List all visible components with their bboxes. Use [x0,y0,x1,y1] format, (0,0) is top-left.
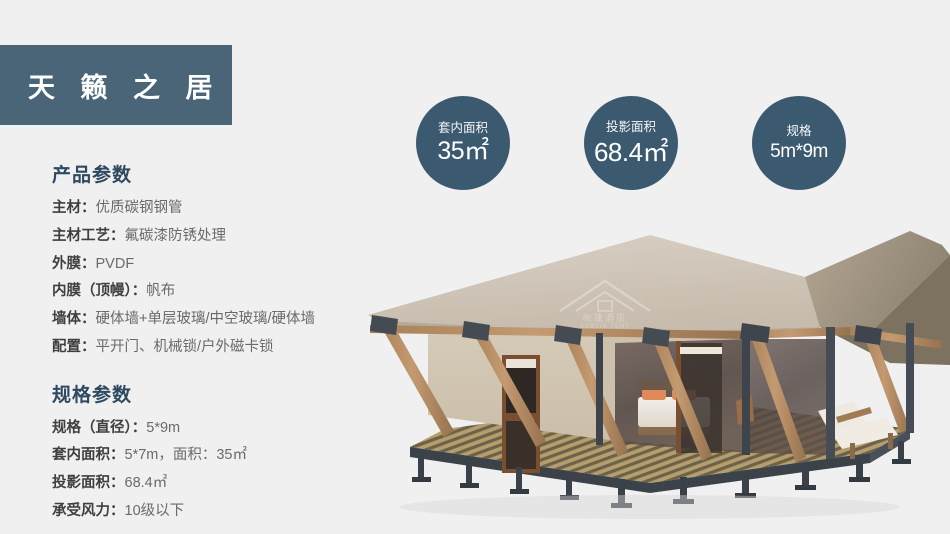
support-leg [898,441,904,461]
leg-base-plate [460,483,479,488]
spec-label: 主材： [52,200,96,216]
tent-house-render: 帐篷酒店 XUELIN TENT [350,215,950,534]
product-spec-page: 天 籁 之 居 产品参数 主材：优质碳钢钢管 主材工艺：氟碳漆防锈处理 外膜：P… [0,0,950,534]
spec-value: 帆布 [146,283,175,299]
stat-label: 套内面积 [438,122,488,135]
spec-row: 墙体：硬体墙+单层玻璃/中空玻璃/硬体墙 [52,306,380,334]
spec-value: 硬体墙+单层玻璃/中空玻璃/硬体墙 [96,311,316,327]
spec-value: 平开门、机械锁/户外磁卡锁 [96,339,274,355]
leg-base-plate [892,459,911,464]
spec-row: 套内面积：5*7m，面积：35㎡ [52,442,380,470]
spec-value: 氟碳漆防锈处理 [125,228,227,244]
steel-column [826,327,835,459]
leg-base-plate [795,485,816,490]
stat-label: 规格 [786,125,811,138]
leg-base-plate [510,489,529,494]
support-leg [742,471,749,495]
lounger-leg-right [888,433,893,449]
ground-shadow [400,495,900,519]
stat-value: 35㎡ [437,139,488,164]
spec-params-heading: 规格参数 [52,380,380,407]
spec-row: 主材：优质碳钢钢管 [52,195,380,223]
window-blind [506,359,536,368]
interior-light-strip [680,347,722,354]
spec-label: 规格（直径）： [52,420,146,436]
product-params-heading: 产品参数 [52,160,380,187]
spec-row: 配置：平开门、机械锁/户外磁卡锁 [52,334,380,362]
spec-label: 墙体： [52,311,96,327]
spec-label: 配置： [52,339,96,355]
steel-column [906,323,914,433]
support-leg [516,467,522,491]
spec-row: 内膜（顶幔）：帆布 [52,278,380,306]
spec-label: 投影面积： [52,475,125,491]
stat-circle-dimensions: 规格 5m*9m [752,96,846,190]
spec-label: 主材工艺： [52,228,125,244]
support-leg [418,455,424,479]
spec-value: PVDF [96,256,135,272]
spec-row: 承受风力：10级以下 [52,498,380,526]
spec-row: 投影面积：68.4㎡ [52,470,380,498]
support-leg [856,457,863,479]
spec-params-list: 规格（直径）：5*9m 套内面积：5*7m，面积：35㎡ 投影面积：68.4㎡ … [0,415,380,526]
leg-base-plate [849,477,870,482]
support-leg [466,461,472,485]
leg-base-plate [412,477,431,482]
spec-value: 优质碳钢钢管 [96,200,183,216]
spec-label: 套内面积： [52,447,125,463]
stat-circles-group: 套内面积 35㎡ 投影面积 68.4㎡ 规格 5m*9m [414,96,894,196]
stat-circle-projected-area: 投影面积 68.4㎡ [584,96,678,190]
stat-label: 投影面积 [606,121,656,134]
support-leg [566,473,572,497]
title-banner: 天 籁 之 居 [0,45,232,125]
spec-value: 5*7m，面积：35㎡ [125,447,247,463]
stat-value: 5m*9m [770,142,828,161]
tent-house-illustration [350,215,950,534]
stat-value: 68.4㎡ [594,139,668,165]
page-title: 天 籁 之 居 [0,66,222,105]
support-leg [802,465,809,487]
spec-label: 内膜（顶幔）： [52,283,146,299]
spec-value: 10级以下 [125,503,185,519]
steel-column [596,333,603,445]
spec-panel: 产品参数 主材：优质碳钢钢管 主材工艺：氟碳漆防锈处理 外膜：PVDF 内膜（顶… [0,160,380,534]
stat-circle-interior-area: 套内面积 35㎡ [416,96,510,190]
spec-row: 主材工艺：氟碳漆防锈处理 [52,223,380,251]
product-params-list: 主材：优质碳钢钢管 主材工艺：氟碳漆防锈处理 外膜：PVDF 内膜（顶幔）：帆布… [0,195,380,362]
steel-column [742,329,750,455]
lounger-leg-left [850,443,855,459]
spec-value: 68.4㎡ [125,475,168,491]
spec-value: 5*9m [146,420,180,436]
spec-row: 规格（直径）：5*9m [52,415,380,443]
spec-label: 外膜： [52,256,96,272]
spec-label: 承受风力： [52,503,125,519]
spec-row: 外膜：PVDF [52,251,380,279]
